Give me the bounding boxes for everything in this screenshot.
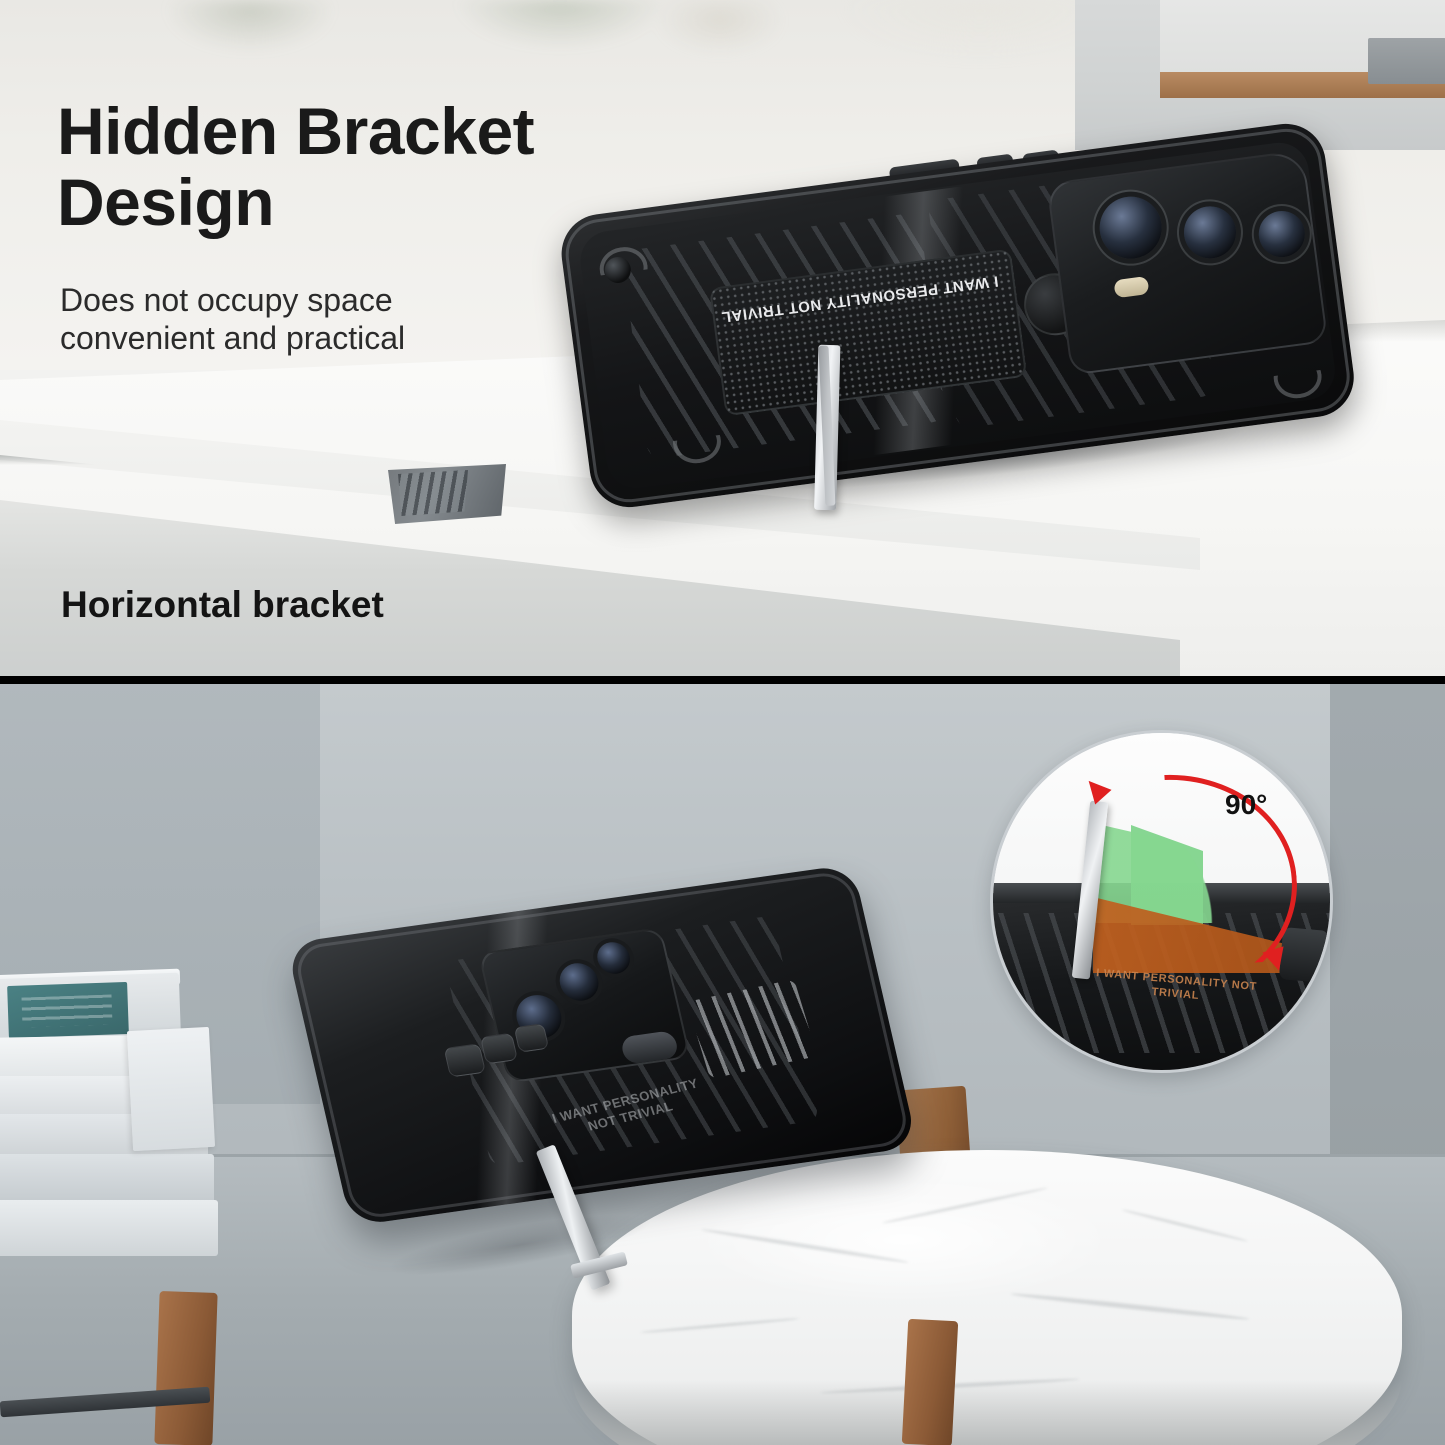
book-5 <box>0 1154 214 1206</box>
page-title: Hidden Bracket Design <box>57 96 697 237</box>
desk-slot-grille <box>398 470 468 516</box>
callout-case-side-notch <box>1279 927 1329 983</box>
table-leg-right <box>902 1319 958 1445</box>
caption-horizontal-bracket: Horizontal bracket <box>61 584 384 626</box>
book-upright <box>127 1027 215 1151</box>
page-subtitle: Does not occupy space convenient and pra… <box>60 281 530 358</box>
angle-label: 90° <box>1225 789 1267 821</box>
book-6 <box>0 1200 218 1256</box>
zoom-callout-circle: I WANT PERSONALITY NOT TRIVIAL 90° <box>990 730 1333 1073</box>
top-panel: I WANT PERSONALITY NOT TRIVIAL Hidden Br… <box>0 0 1445 680</box>
book-cover-text-lines <box>22 994 113 1027</box>
panel-divider <box>0 676 1445 684</box>
product-infographic: I WANT PERSONALITY NOT TRIVIAL Hidden Br… <box>0 0 1445 1445</box>
top-grey-object <box>1368 38 1445 84</box>
table-leg-left <box>154 1291 217 1445</box>
